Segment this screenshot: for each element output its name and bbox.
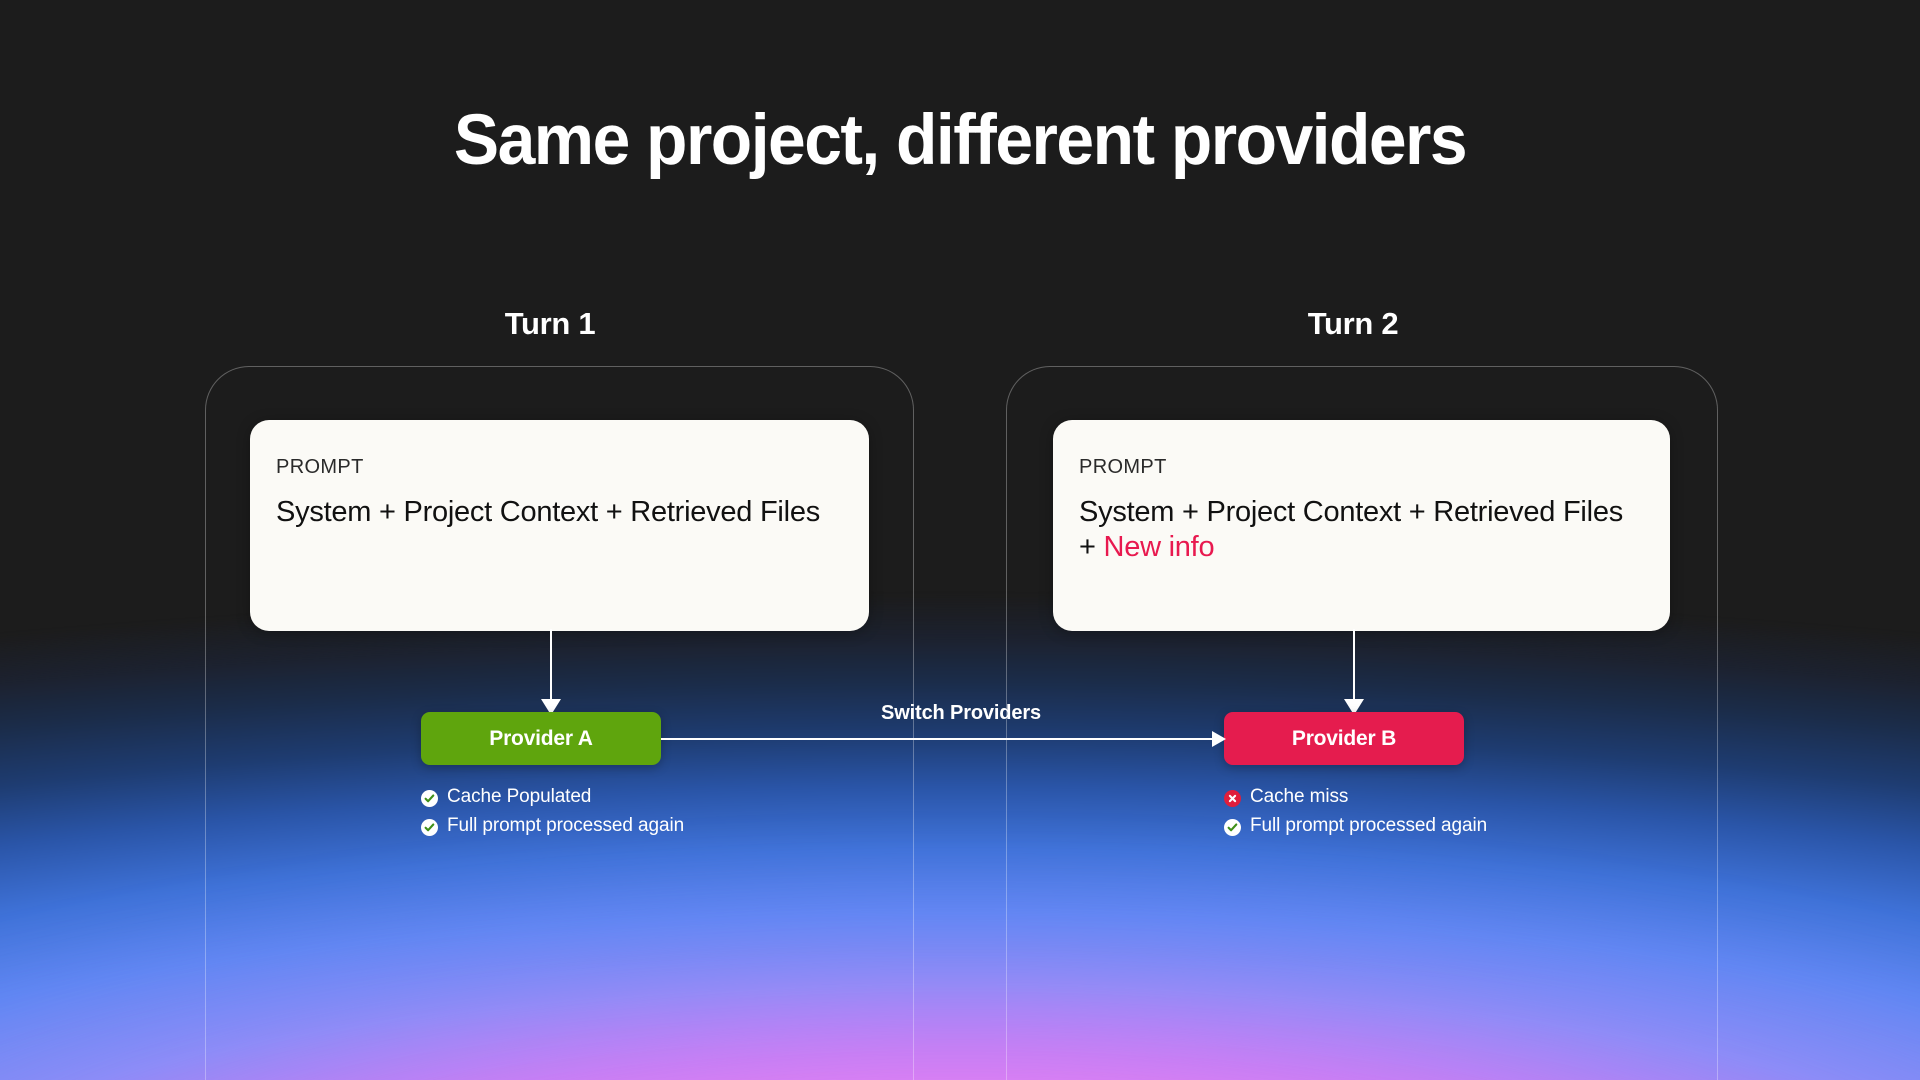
check-circle-icon xyxy=(1224,819,1241,836)
page-title: Same project, different providers xyxy=(43,103,1877,178)
prompt-text-highlight: New info xyxy=(1104,531,1215,563)
provider-a-label: Provider A xyxy=(489,727,592,751)
list-item: Full prompt processed again xyxy=(1224,815,1487,837)
list-item-label: Cache Populated xyxy=(447,786,591,808)
turn-1-heading: Turn 1 xyxy=(505,306,596,342)
list-item-label: Full prompt processed again xyxy=(1250,815,1487,837)
diagram-canvas: Same project, different providers Turn 1… xyxy=(0,0,1920,1080)
provider-a-pill[interactable]: Provider A xyxy=(421,712,661,765)
check-circle-icon xyxy=(421,819,438,836)
turn-2-prompt-card: PROMPT System + Project Context + Retrie… xyxy=(1053,420,1670,631)
turn-1-status-list: Cache Populated Full prompt processed ag… xyxy=(421,786,684,844)
list-item-label: Full prompt processed again xyxy=(447,815,684,837)
switch-providers-label: Switch Providers xyxy=(881,702,1041,725)
list-item: Full prompt processed again xyxy=(421,815,684,837)
list-item: Cache miss xyxy=(1224,786,1487,808)
provider-b-pill[interactable]: Provider B xyxy=(1224,712,1464,765)
prompt-text: System + Project Context + Retrieved Fil… xyxy=(1079,495,1644,565)
list-item: Cache Populated xyxy=(421,786,684,808)
list-item-label: Cache miss xyxy=(1250,786,1348,808)
turn-2-heading: Turn 2 xyxy=(1308,306,1399,342)
prompt-kicker: PROMPT xyxy=(276,456,843,479)
check-circle-icon xyxy=(421,790,438,807)
prompt-text-base: System + Project Context + Retrieved Fil… xyxy=(276,496,820,528)
prompt-kicker: PROMPT xyxy=(1079,456,1644,479)
provider-b-label: Provider B xyxy=(1292,727,1396,751)
prompt-text: System + Project Context + Retrieved Fil… xyxy=(276,495,843,530)
turn-1-prompt-card: PROMPT System + Project Context + Retrie… xyxy=(250,420,869,631)
x-circle-icon xyxy=(1224,790,1241,807)
turn-2-status-list: Cache miss Full prompt processed again xyxy=(1224,786,1487,844)
